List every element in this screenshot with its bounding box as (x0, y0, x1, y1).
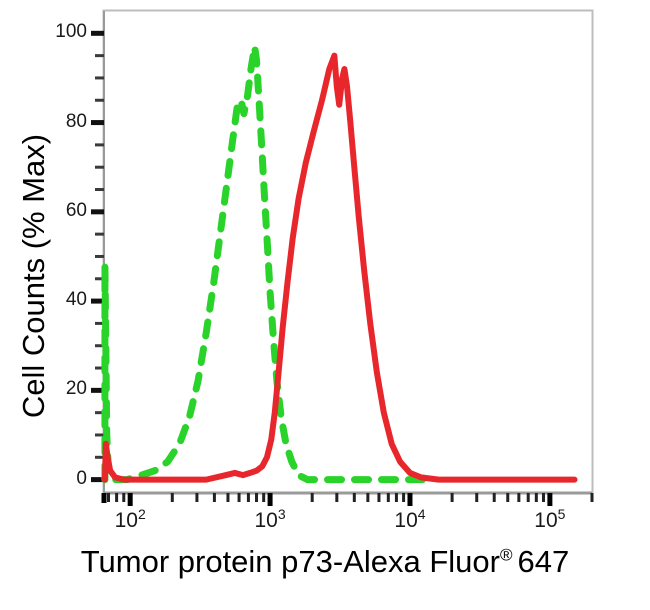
x-tick-mantissa: 10 (534, 509, 557, 532)
x-axis (104, 493, 592, 506)
x-tick-label: 105 (510, 509, 590, 533)
registered-trademark-icon: ® (500, 546, 513, 565)
x-tick-mantissa: 10 (254, 509, 277, 532)
x-tick-mantissa: 10 (115, 509, 138, 532)
x-axis-title-main: Tumor protein p73-Alexa Fluor (81, 544, 500, 579)
x-tick-label: 104 (370, 509, 450, 533)
x-tick-exponent: 4 (418, 506, 426, 522)
y-axis-title: Cell Counts (% Max) (16, 36, 52, 516)
x-axis-title-suffix: 647 (518, 544, 570, 579)
x-tick-label: 103 (230, 509, 310, 533)
x-tick-exponent: 2 (138, 506, 146, 522)
x-tick-mantissa: 10 (394, 509, 417, 532)
x-tick-label: 102 (90, 509, 170, 533)
x-axis-title: Tumor protein p73-Alexa Fluor®647 (0, 544, 650, 580)
flow-cytometry-histogram-figure: 020406080100 102103104105 Cell Counts (%… (0, 0, 650, 610)
x-tick-exponent: 5 (558, 506, 566, 522)
x-tick-exponent: 3 (278, 506, 286, 522)
